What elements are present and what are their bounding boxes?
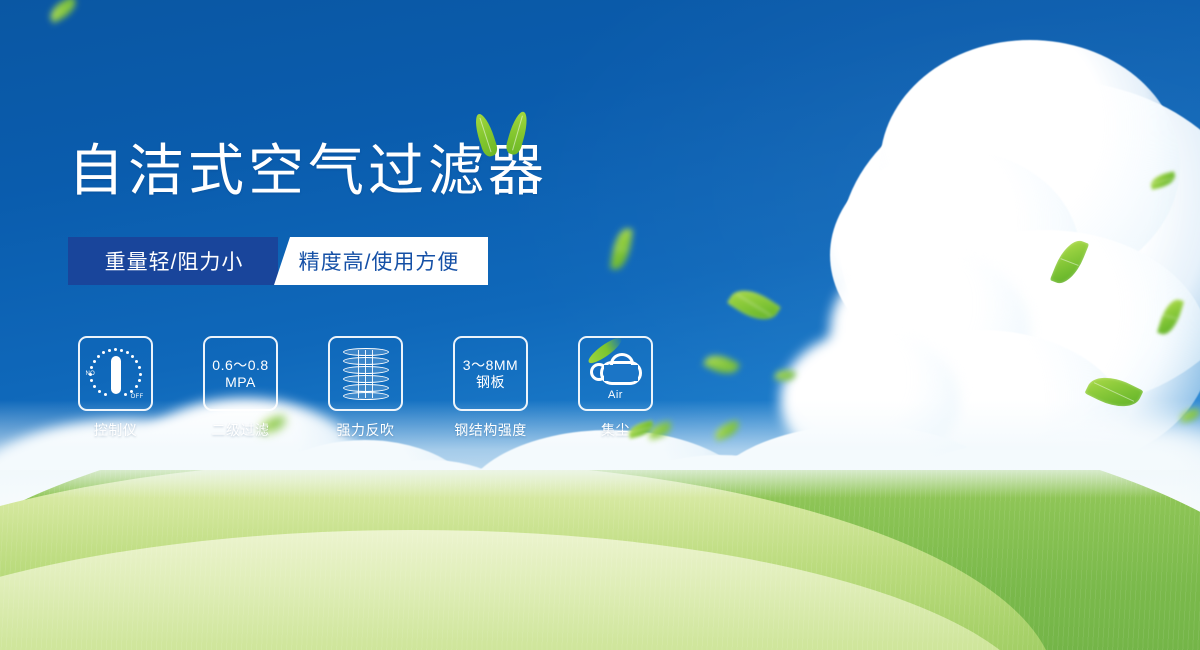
hero-banner: 自洁式空气过滤器 重量轻/阻力小 精度高/使用方便 [0, 0, 1200, 650]
feature-label: 控制仪 [94, 420, 138, 440]
tagline-primary: 重量轻/阻力小 [68, 237, 278, 285]
feature-item[interactable]: NO OFF 控制仪 [78, 336, 153, 440]
banner-content: 自洁式空气过滤器 重量轻/阻力小 精度高/使用方便 [0, 0, 1200, 650]
filter-stack-icon [343, 348, 389, 400]
dial-label-on: NO [86, 371, 96, 377]
feature-icon-box: 0.6～0.8 MPA [203, 336, 278, 411]
feature-icon-box [328, 336, 403, 411]
feature-label: 集尘 [601, 420, 630, 440]
feature-item[interactable]: 3～8MM 钢板 钢结构强度 [453, 336, 528, 440]
tagline-secondary: 精度高/使用方便 [274, 237, 488, 285]
dial-icon: NO OFF [87, 347, 145, 401]
feature-label: 强力反吹 [337, 420, 395, 440]
feature-label: 二级过滤 [212, 420, 270, 440]
feature-icon-box: 3～8MM 钢板 [453, 336, 528, 411]
pressure-value-line1: 0.6～0.8 [212, 357, 268, 374]
feature-item[interactable]: 强力反吹 [328, 336, 403, 440]
steel-value-line2: 钢板 [476, 374, 505, 391]
feature-icon-box: Air [578, 336, 653, 411]
steel-value-line1: 3～8MM [463, 357, 518, 374]
dial-label-off: OFF [131, 394, 144, 400]
feature-label: 钢结构强度 [454, 420, 527, 440]
pressure-value-line2: MPA [225, 374, 256, 391]
tagline-band: 重量轻/阻力小 精度高/使用方便 [68, 237, 488, 285]
feature-icon-box: NO OFF [78, 336, 153, 411]
cloud-air-icon: Air [588, 351, 644, 397]
page-title: 自洁式空气过滤器 [68, 143, 548, 199]
air-label: Air [588, 389, 644, 401]
dial-lever [111, 356, 121, 394]
feature-item[interactable]: 0.6～0.8 MPA 二级过滤 [203, 336, 278, 440]
feature-list: NO OFF 控制仪 0.6～0.8 MPA 二级过滤 [78, 336, 653, 440]
